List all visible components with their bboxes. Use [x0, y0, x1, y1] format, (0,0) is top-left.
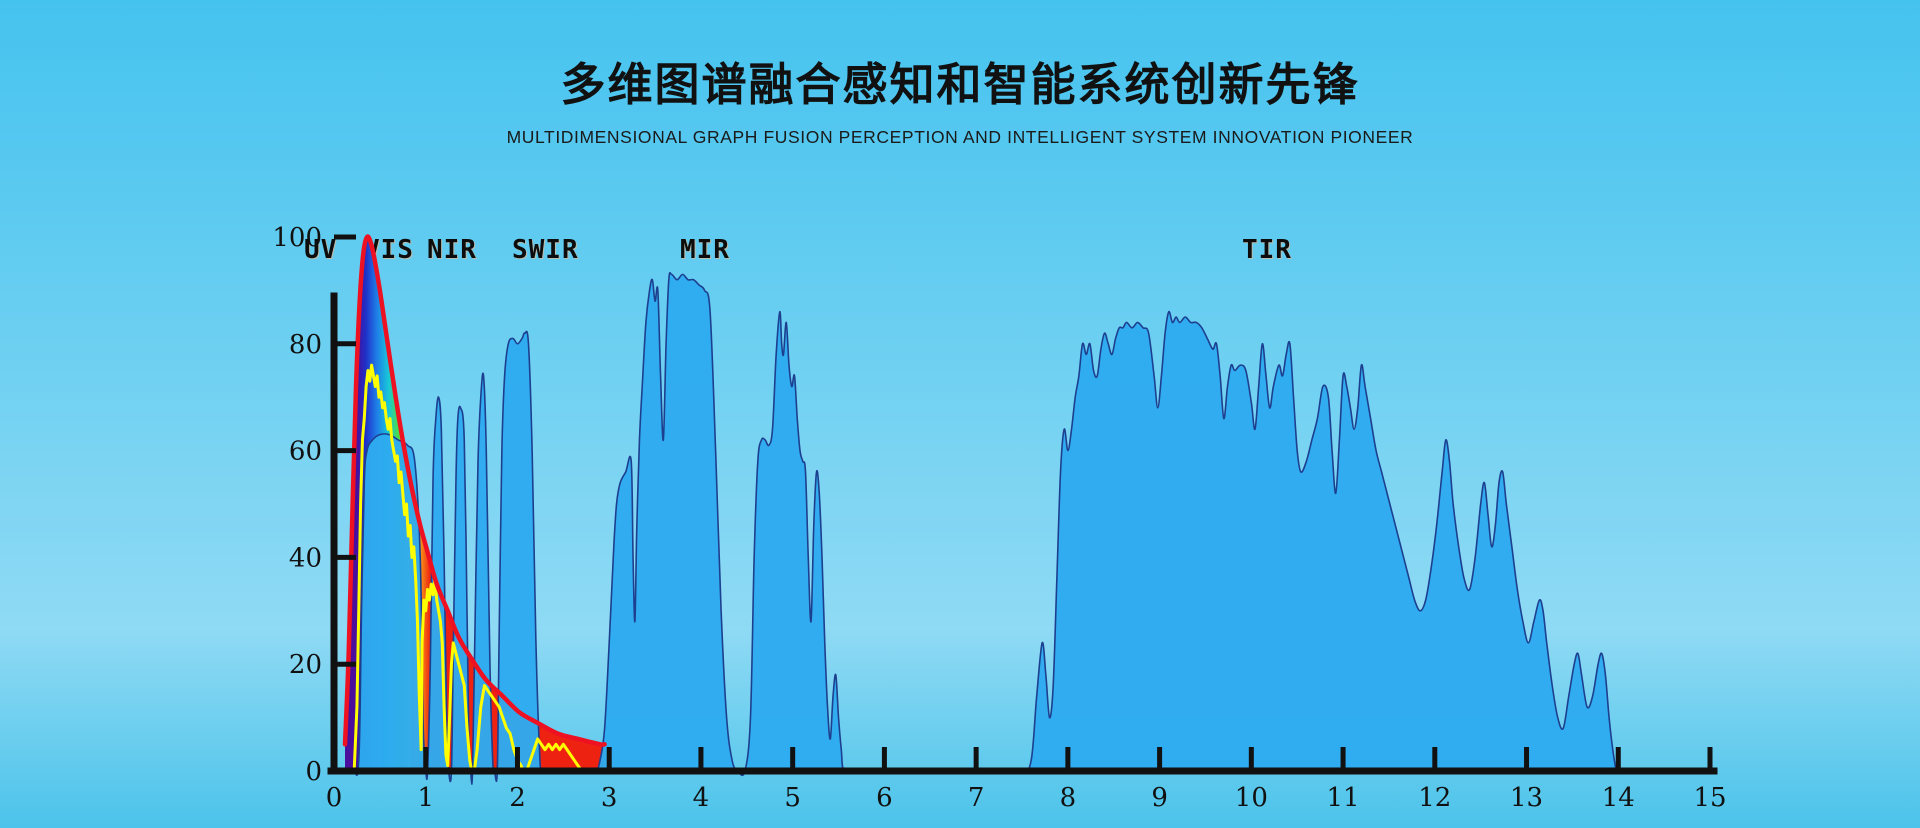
poster-root: 多维图谱融合感知和智能系统创新先锋 MULTIDIMENSIONAL GRAPH… — [0, 0, 1920, 828]
x-tick-label: 7 — [968, 783, 985, 813]
y-tick-label: 100 — [272, 223, 322, 253]
y-tick-label: 0 — [305, 757, 322, 787]
y-axis-tick-labels: 020406080100 — [272, 223, 322, 787]
x-tick-label: 14 — [1602, 783, 1635, 813]
atmospheric-transmission-area — [334, 273, 1710, 784]
x-axis-tick-labels: 0123456789101112131415 — [326, 783, 1727, 813]
x-tick-label: 13 — [1510, 783, 1543, 813]
x-tick-label: 6 — [876, 783, 893, 813]
y-tick-label: 80 — [289, 330, 322, 360]
y-tick-label: 40 — [289, 543, 322, 573]
y-tick-label: 20 — [289, 650, 322, 680]
x-tick-label: 0 — [326, 783, 343, 813]
x-tick-label: 11 — [1327, 783, 1360, 813]
x-tick-label: 8 — [1060, 783, 1077, 813]
x-tick-label: 12 — [1418, 783, 1451, 813]
x-tick-label: 5 — [784, 783, 801, 813]
x-tick-label: 9 — [1151, 783, 1168, 813]
spectral-chart: 020406080100 0123456789101112131415 — [0, 0, 1920, 828]
y-tick-label: 60 — [289, 437, 322, 467]
x-tick-label: 4 — [693, 783, 710, 813]
x-tick-label: 3 — [601, 783, 618, 813]
x-tick-label: 2 — [509, 783, 526, 813]
x-tick-label: 15 — [1693, 783, 1726, 813]
x-tick-label: 1 — [417, 783, 434, 813]
x-tick-label: 10 — [1235, 783, 1268, 813]
